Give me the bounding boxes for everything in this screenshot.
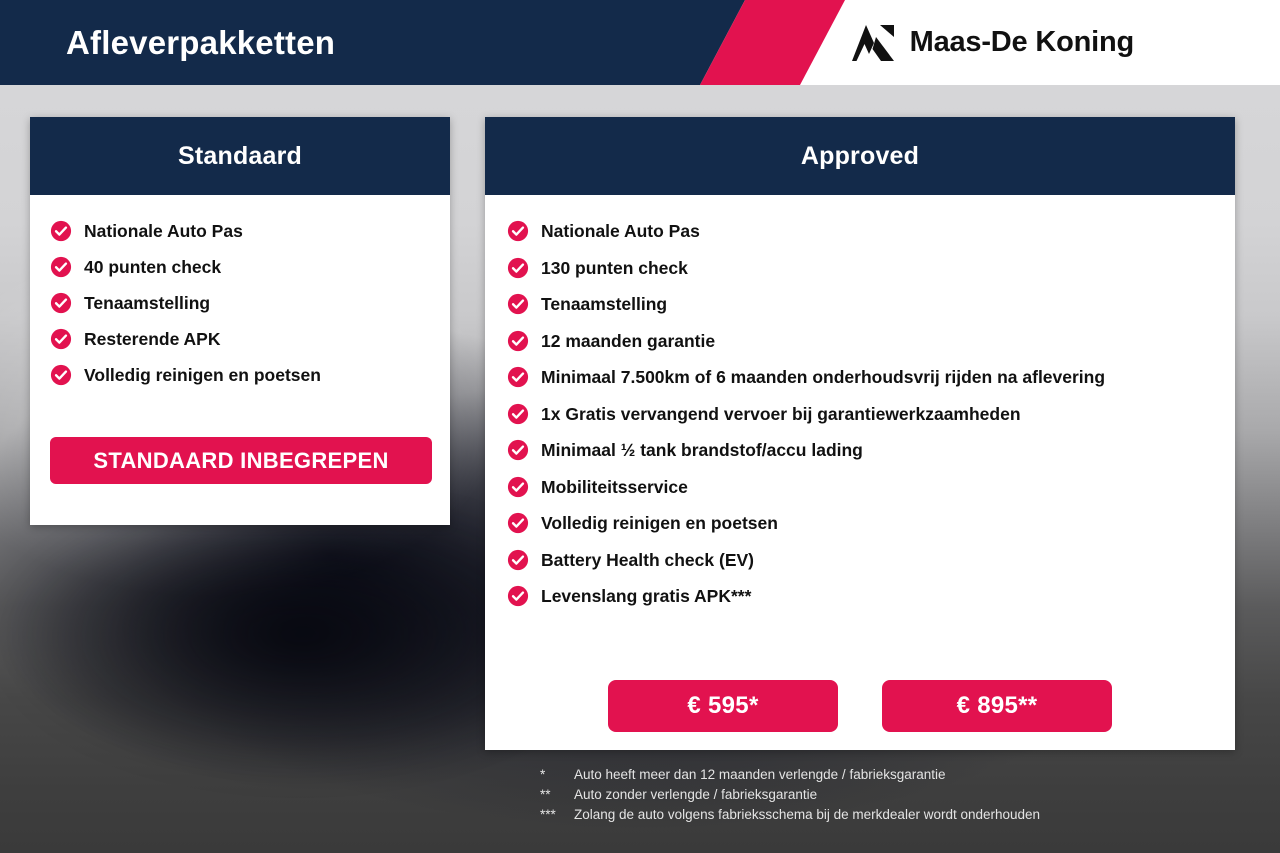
brand-name: Maas-De Koning: [910, 26, 1134, 59]
feature-label: Battery Health check (EV): [541, 542, 754, 579]
feature-label: Nationale Auto Pas: [84, 213, 243, 249]
feature-item: Mobiliteitsservice: [507, 469, 1235, 506]
check-circle-icon: [50, 220, 72, 242]
card-title-approved: Approved: [801, 142, 919, 171]
check-circle-icon: [507, 220, 529, 242]
feature-label: 12 maanden garantie: [541, 323, 715, 360]
feature-label: Nationale Auto Pas: [541, 213, 700, 250]
feature-item: Nationale Auto Pas: [50, 213, 450, 249]
footnote-marker: *: [540, 765, 574, 785]
feature-item: 12 maanden garantie: [507, 323, 1235, 360]
check-circle-icon: [50, 328, 72, 350]
feature-label: Tenaamstelling: [541, 286, 667, 323]
footnote-row: *Auto heeft meer dan 12 maanden verlengd…: [540, 765, 1240, 785]
price-button-1[interactable]: € 595*: [608, 680, 838, 732]
feature-label: Volledig reinigen en poetsen: [541, 505, 778, 542]
feature-item: Volledig reinigen en poetsen: [50, 357, 450, 393]
page-title: Afleverpakketten: [66, 0, 335, 85]
feature-label: Levenslang gratis APK***: [541, 578, 751, 615]
price-button-row: € 595*€ 895**: [485, 680, 1235, 732]
maas-de-koning-m-mark-icon: [850, 23, 896, 63]
promo-page: Afleverpakketten Maas-De Koning Standaar…: [0, 0, 1280, 853]
footnote-row: **Auto zonder verlengde / fabrieksgarant…: [540, 785, 1240, 805]
check-circle-icon: [507, 476, 529, 498]
feature-item: 40 punten check: [50, 249, 450, 285]
feature-item: Volledig reinigen en poetsen: [507, 505, 1235, 542]
card-header-approved: Approved: [485, 117, 1235, 195]
feature-list-standaard: Nationale Auto Pas40 punten checkTenaams…: [30, 195, 450, 393]
check-circle-icon: [50, 256, 72, 278]
feature-item: 130 punten check: [507, 250, 1235, 287]
feature-item: Tenaamstelling: [50, 285, 450, 321]
check-circle-icon: [507, 549, 529, 571]
feature-label: Tenaamstelling: [84, 285, 210, 321]
footnote-row: ***Zolang de auto volgens fabrieksschema…: [540, 805, 1240, 825]
check-circle-icon: [507, 403, 529, 425]
standaard-inbegrepen-button[interactable]: STANDAARD INBEGREPEN: [50, 437, 432, 484]
check-circle-icon: [50, 292, 72, 314]
footnote-marker: ***: [540, 805, 574, 825]
feature-label: Volledig reinigen en poetsen: [84, 357, 321, 393]
feature-item: Nationale Auto Pas: [507, 213, 1235, 250]
feature-item: Battery Health check (EV): [507, 542, 1235, 579]
feature-label: Resterende APK: [84, 321, 220, 357]
card-title-standaard: Standaard: [178, 142, 302, 171]
feature-label: Minimaal 7.500km of 6 maanden onderhouds…: [541, 359, 1105, 396]
footnotes: *Auto heeft meer dan 12 maanden verlengd…: [540, 765, 1240, 825]
feature-label: Mobiliteitsservice: [541, 469, 688, 506]
footnote-text: Auto heeft meer dan 12 maanden verlengde…: [574, 765, 1240, 785]
feature-label: Minimaal ½ tank brandstof/accu lading: [541, 432, 863, 469]
footnote-text: Auto zonder verlengde / fabrieksgarantie: [574, 785, 1240, 805]
feature-item: Minimaal 7.500km of 6 maanden onderhouds…: [507, 359, 1235, 396]
feature-item: 1x Gratis vervangend vervoer bij garanti…: [507, 396, 1235, 433]
feature-item: Tenaamstelling: [507, 286, 1235, 323]
check-circle-icon: [507, 439, 529, 461]
feature-item: Levenslang gratis APK***: [507, 578, 1235, 615]
card-header-standaard: Standaard: [30, 117, 450, 195]
footnote-marker: **: [540, 785, 574, 805]
check-circle-icon: [507, 293, 529, 315]
feature-item: Minimaal ½ tank brandstof/accu lading: [507, 432, 1235, 469]
check-circle-icon: [507, 257, 529, 279]
footnote-text: Zolang de auto volgens fabrieksschema bi…: [574, 805, 1240, 825]
card-body-approved: Nationale Auto Pas130 punten checkTenaam…: [485, 195, 1235, 615]
feature-label: 130 punten check: [541, 250, 688, 287]
feature-item: Resterende APK: [50, 321, 450, 357]
card-body-standaard: Nationale Auto Pas40 punten checkTenaams…: [30, 195, 450, 393]
page-header: Afleverpakketten Maas-De Koning: [0, 0, 1280, 85]
brand-logo: Maas-De Koning: [850, 0, 1134, 85]
check-circle-icon: [507, 512, 529, 534]
feature-list-approved: Nationale Auto Pas130 punten checkTenaam…: [485, 195, 1235, 615]
check-circle-icon: [507, 585, 529, 607]
check-circle-icon: [507, 366, 529, 388]
price-button-2[interactable]: € 895**: [882, 680, 1112, 732]
check-circle-icon: [507, 330, 529, 352]
feature-label: 1x Gratis vervangend vervoer bij garanti…: [541, 396, 1021, 433]
package-card-standaard: Standaard Nationale Auto Pas40 punten ch…: [30, 117, 450, 525]
check-circle-icon: [50, 364, 72, 386]
feature-label: 40 punten check: [84, 249, 221, 285]
package-card-approved: Approved Nationale Auto Pas130 punten ch…: [485, 117, 1235, 750]
